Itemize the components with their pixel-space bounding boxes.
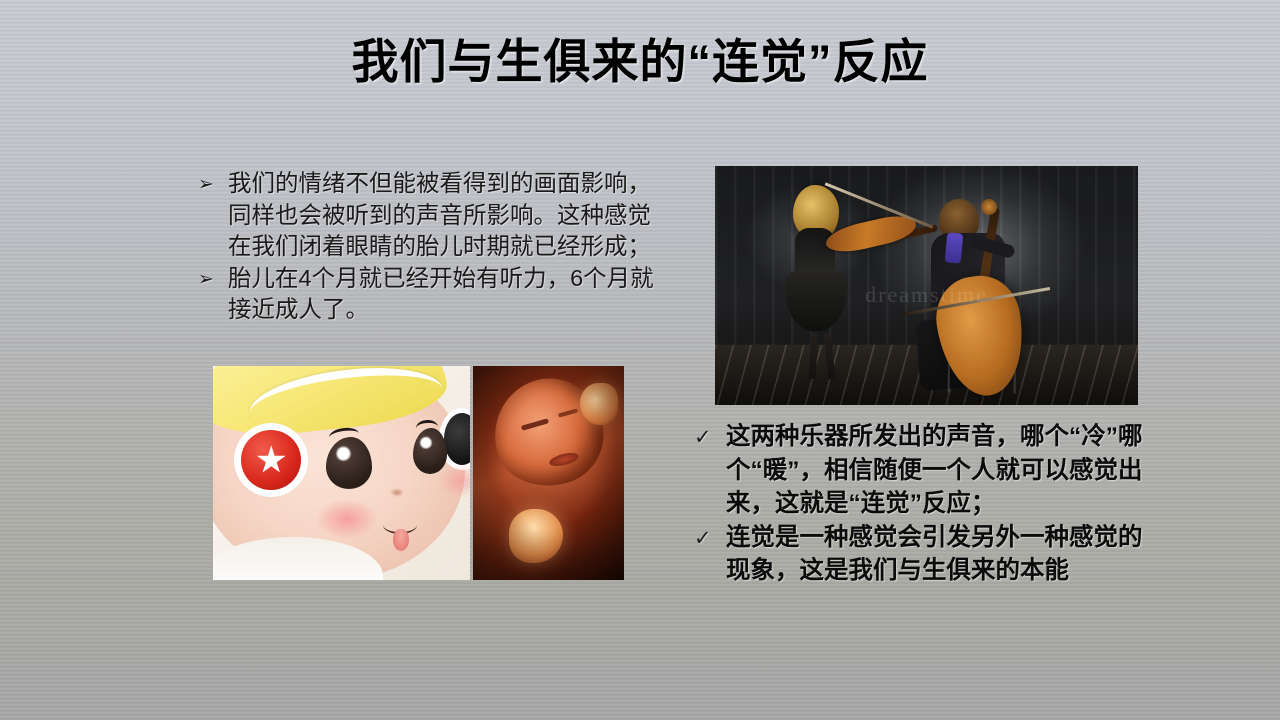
list-item-text: 胎儿在4个月就已经开始有听力，6个月就接近成人了。 <box>228 263 658 326</box>
doll-with-headphones-photo <box>213 366 470 580</box>
page-title: 我们与生俱来的“连觉”反应 <box>0 32 1280 92</box>
doll-tongue <box>393 529 409 551</box>
violinist-and-cellist-photo: dreamstime <box>715 166 1138 405</box>
fetus-in-womb-photo <box>473 366 624 580</box>
cellist-scarf <box>944 232 963 263</box>
check-bullet-icon: ✓ <box>694 522 726 556</box>
list-item: ✓ 这两种乐器所发出的声音，哪个“冷”哪个“暖”，相信随便一个人就可以感觉出来，… <box>694 420 1164 521</box>
right-text-block: ✓ 这两种乐器所发出的声音，哪个“冷”哪个“暖”，相信随便一个人就可以感觉出来，… <box>694 420 1164 588</box>
list-item-text: 我们的情绪不但能被看得到的画面影响，同样也会被听到的声音所影响。这种感觉在我们闭… <box>228 168 658 263</box>
check-bullet-icon: ✓ <box>694 421 726 455</box>
list-item: ✓ 连觉是一种感觉会引发另外一种感觉的现象，这是我们与生俱来的本能 <box>694 521 1164 588</box>
list-item: ➢ 胎儿在4个月就已经开始有听力，6个月就接近成人了。 <box>198 263 658 326</box>
doll-cheek-left <box>316 499 378 539</box>
arrow-bullet-icon: ➢ <box>198 169 228 201</box>
list-item-text: 连觉是一种感觉会引发另外一种感觉的现象，这是我们与生俱来的本能 <box>726 521 1164 588</box>
photo-vignette <box>473 366 624 580</box>
left-text-block: ➢ 我们的情绪不但能被看得到的画面影响，同样也会被听到的声音所影响。这种感觉在我… <box>198 168 658 326</box>
doll-eyelash-right <box>416 419 439 435</box>
slide-canvas: 我们与生俱来的“连觉”反应 ➢ 我们的情绪不但能被看得到的画面影响，同样也会被听… <box>0 0 1280 720</box>
list-item: ➢ 我们的情绪不但能被看得到的画面影响，同样也会被听到的声音所影响。这种感觉在我… <box>198 168 658 263</box>
arrow-bullet-icon: ➢ <box>198 264 228 296</box>
photo-watermark: dreamstime <box>865 282 988 308</box>
star-icon <box>256 445 286 475</box>
list-item-text: 这两种乐器所发出的声音，哪个“冷”哪个“暖”，相信随便一个人就可以感觉出来，这就… <box>726 420 1164 521</box>
